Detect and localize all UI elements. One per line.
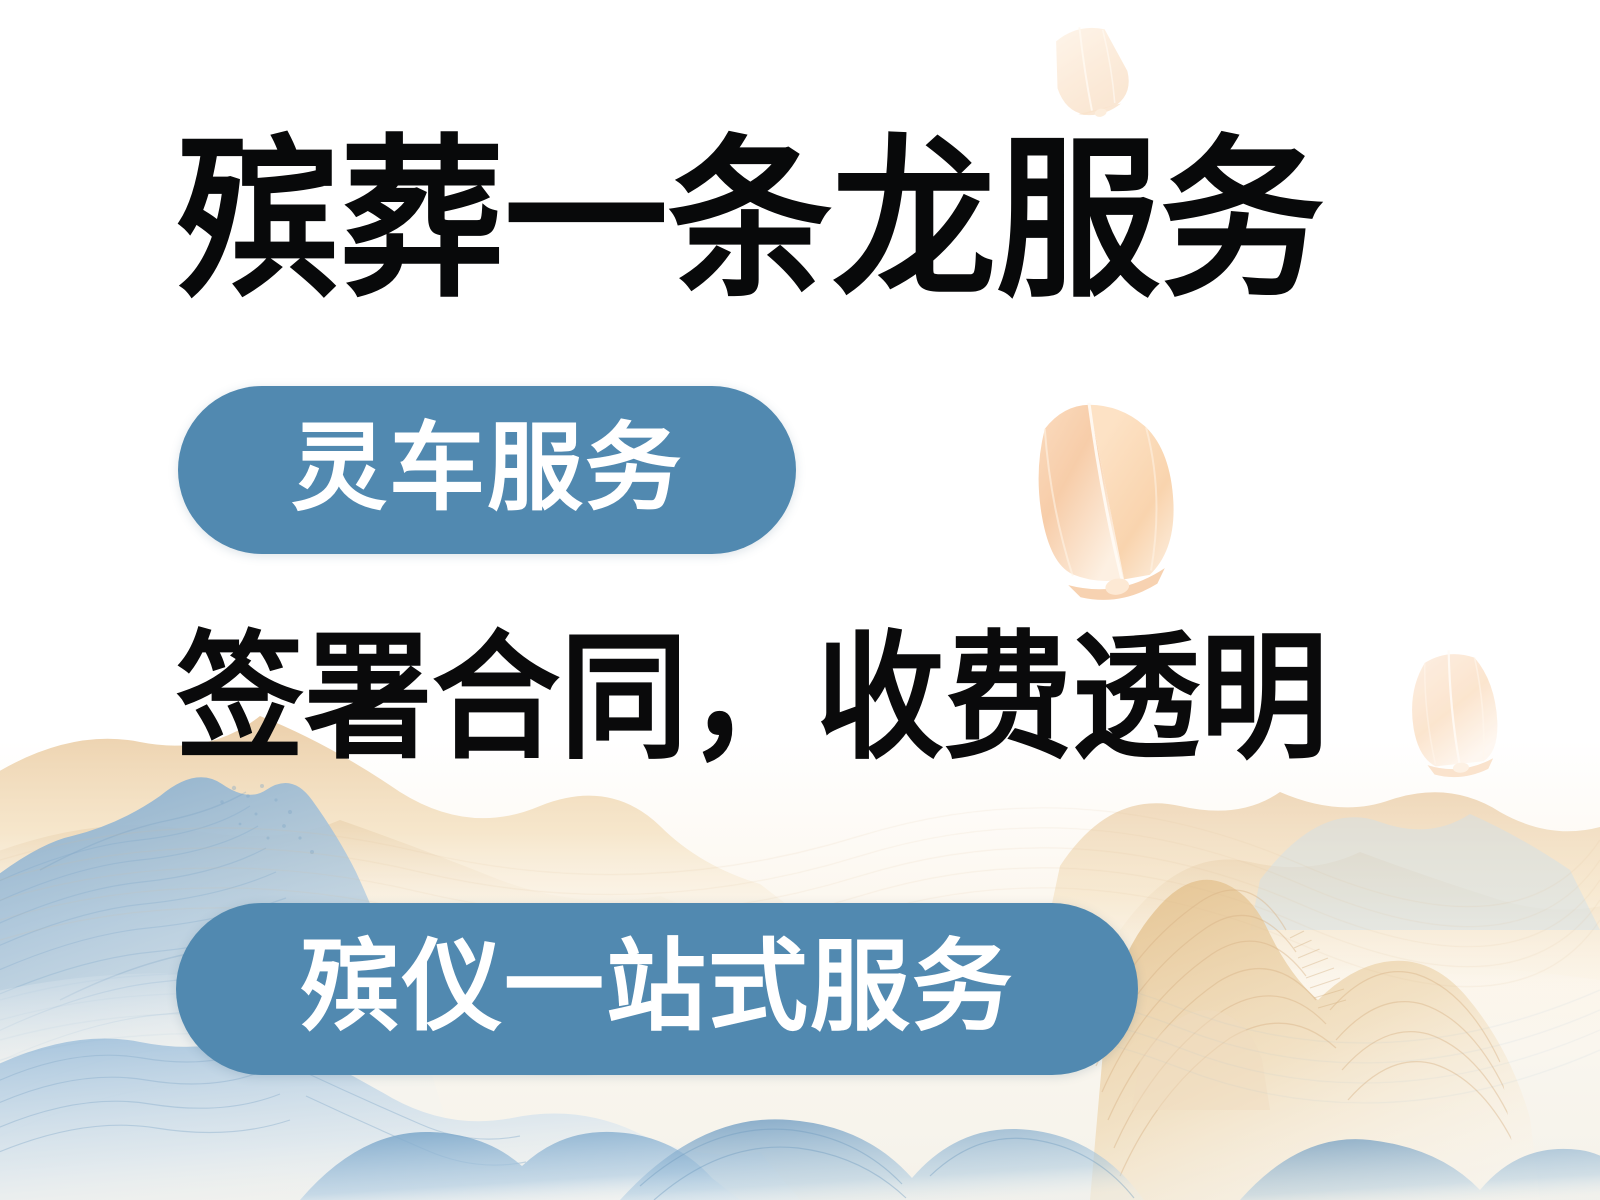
- service-pill-one-stop[interactable]: 殡仪一站式服务: [176, 903, 1138, 1075]
- front-blue-hills-center: [620, 1119, 1144, 1200]
- page-title: 殡葬一条龙服务: [176, 136, 1324, 310]
- left-peak-texture: [220, 784, 314, 854]
- sky-lantern-middle-icon: [1002, 386, 1202, 614]
- front-blue-hills-right: [1240, 1139, 1600, 1200]
- front-hill-contours: [640, 1129, 1134, 1200]
- gold-hero-peak: [1090, 880, 1540, 1200]
- service-pill-one-stop-label: 殡仪一站式服务: [300, 937, 1014, 1037]
- sky-lantern-right-icon: [1392, 640, 1518, 782]
- poster-canvas: 殡葬一条龙服务 灵车服务 签署合同，收费透明 殡仪一站式服务: [0, 0, 1600, 1200]
- service-pill-hearse-label: 灵车服务: [291, 420, 683, 516]
- page-subtitle: 签署合同，收费透明: [176, 630, 1328, 768]
- front-blue-hills-left: [300, 1132, 740, 1200]
- gold-peak-contours: [1090, 890, 1518, 1176]
- sky-lantern-top-icon: [1036, 18, 1146, 138]
- service-pill-hearse[interactable]: 灵车服务: [178, 386, 796, 554]
